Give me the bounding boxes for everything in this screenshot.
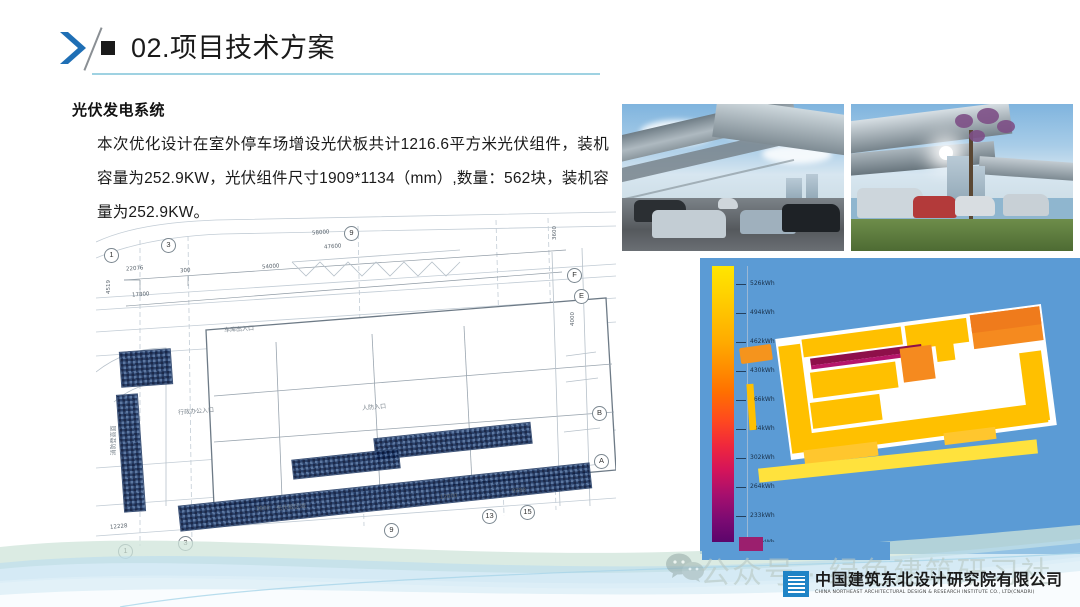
legend-tick: [736, 458, 746, 459]
legend-tick: [736, 516, 746, 517]
legend-label: 494kWh: [750, 309, 775, 316]
legend-label: 526kWh: [750, 280, 775, 287]
photo-car: [1003, 194, 1049, 216]
legend-tick: [736, 313, 746, 314]
legend-tick: [736, 429, 746, 430]
photo-car: [913, 196, 957, 218]
section-subtitle: 光伏发电系统: [72, 99, 165, 120]
grid-marker: 1: [104, 248, 119, 263]
grid-marker: A: [594, 454, 609, 469]
company-footer: 中国建筑东北设计研究院有限公司 CHINA NORTHEAST ARCHITEC…: [783, 571, 1063, 597]
dimension-label: 17800: [132, 291, 150, 298]
photo-car: [782, 204, 840, 232]
photo-foliage: [955, 114, 973, 128]
legend-tick: [736, 342, 746, 343]
company-name-cn: 中国建筑东北设计研究院有限公司: [815, 572, 1063, 589]
legend-label: 264kWh: [750, 483, 775, 490]
legend-tick: [736, 371, 746, 372]
heatmap-building-footprint: [775, 304, 1057, 460]
pv-array: [119, 348, 173, 388]
photo-car: [955, 196, 995, 216]
photo-car: [652, 210, 726, 238]
solar-carport-photo-left: [622, 104, 844, 251]
dimension-label: 4519: [106, 280, 112, 294]
heatmap-color-legend: [712, 266, 734, 546]
dimension-label: 58000: [312, 229, 330, 236]
grid-marker: B: [592, 406, 607, 421]
dimension-label: 22076: [126, 265, 144, 272]
header-underline: [92, 73, 600, 75]
slide-header: 02.项目技术方案: [0, 0, 1080, 92]
photo-foliage: [977, 108, 999, 124]
legend-label: 233kWh: [750, 512, 775, 519]
dimension-label: 3900: [256, 505, 270, 512]
legend-tick: [736, 487, 746, 488]
chevron-right-icon: [58, 31, 88, 65]
dimension-label: 54000: [262, 263, 280, 270]
slide-root: 02.项目技术方案 光伏发电系统 本次优化设计在室外停车场增设光伏板共计1216…: [0, 0, 1080, 607]
cnadri-logo-icon: [783, 571, 809, 597]
company-name-en: CHINA NORTHEAST ARCHITECTURAL DESIGN & R…: [815, 589, 1063, 596]
legend-label: 302kWh: [750, 454, 775, 461]
grid-marker: F: [567, 268, 582, 283]
solar-irradiance-heatmap: 526kWh 494kWh 462kWh 430kWh 366kWh 334kW…: [700, 258, 1080, 554]
site-plan-drawing: 1 3 9 1 3 9 13 15 F E B A 22076 17800 45…: [96, 206, 616, 561]
solar-carport-photo-right: [851, 104, 1073, 251]
dimension-label: 300: [180, 268, 191, 275]
page-title: 02.项目技术方案: [131, 30, 335, 66]
plan-annotation: 消防登高面: [109, 425, 118, 455]
legend-tick: [736, 400, 746, 401]
legend-label: 430kWh: [750, 367, 775, 374]
photo-foliage: [969, 130, 985, 142]
square-bullet-icon: [101, 41, 115, 55]
dimension-label: 47600: [324, 243, 342, 250]
dimension-label: 3600: [552, 226, 558, 240]
legend-tick: [736, 284, 746, 285]
heatmap-patch: [739, 344, 773, 364]
photo-grass: [851, 219, 1073, 251]
grid-marker: E: [574, 289, 589, 304]
grid-marker: 15: [520, 505, 535, 520]
dimension-label: 4000: [570, 312, 576, 326]
grid-marker: 9: [344, 226, 359, 241]
photo-foliage: [997, 120, 1015, 133]
dimension-label: 9288: [512, 487, 526, 494]
grid-marker: 3: [161, 238, 176, 253]
photo-car: [718, 198, 738, 209]
